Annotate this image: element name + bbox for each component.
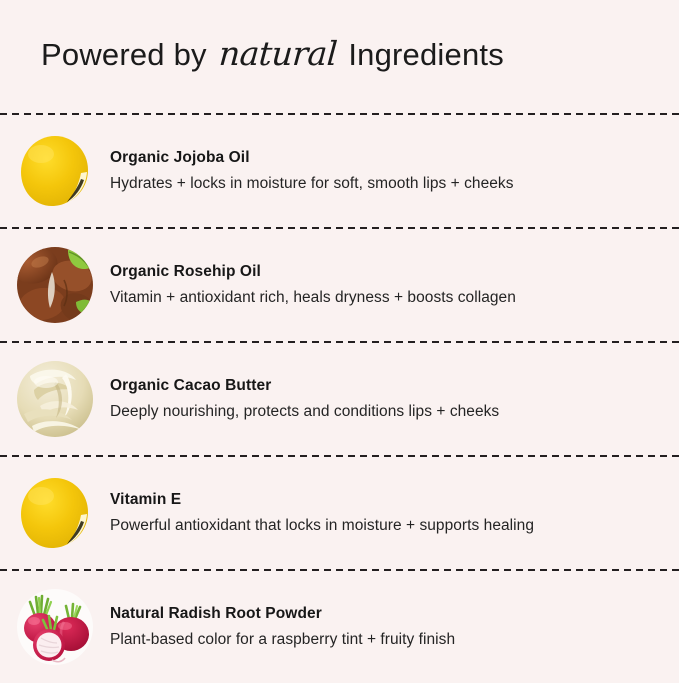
list-item: Organic Jojoba Oil Hydrates + locks in m… — [0, 115, 679, 227]
jojoba-oil-drop-icon — [16, 132, 94, 210]
ingredient-title: Organic Cacao Butter — [110, 375, 655, 397]
ingredient-description: Plant-based color for a raspberry tint +… — [110, 626, 655, 651]
list-item: Natural Radish Root Powder Plant-based c… — [0, 571, 679, 683]
page-title-script-word: natural — [214, 34, 341, 74]
radish-root-icon — [16, 588, 94, 666]
ingredient-text: Natural Radish Root Powder Plant-based c… — [110, 603, 679, 651]
ingredients-list: Organic Jojoba Oil Hydrates + locks in m… — [0, 113, 679, 683]
ingredient-thumbnail-wrap — [0, 588, 110, 666]
ingredient-text: Organic Cacao Butter Deeply nourishing, … — [110, 375, 679, 423]
vitamin-e-drop-icon — [16, 474, 94, 552]
ingredient-thumbnail-wrap — [0, 474, 110, 552]
rosehip-seeds-icon — [16, 246, 94, 324]
cacao-butter-swirl-icon — [16, 360, 94, 438]
ingredient-title: Organic Jojoba Oil — [110, 147, 655, 169]
ingredient-text: Vitamin E Powerful antioxidant that lock… — [110, 489, 679, 537]
ingredients-infographic: Powered by natural Ingredients — [0, 0, 679, 679]
ingredient-thumbnail-wrap — [0, 246, 110, 324]
ingredient-text: Organic Rosehip Oil Vitamin + antioxidan… — [110, 261, 679, 309]
ingredient-description: Powerful antioxidant that locks in moist… — [110, 512, 655, 537]
ingredient-thumbnail-wrap — [0, 132, 110, 210]
page-title-part2: Ingredients — [348, 37, 504, 72]
page-title: Powered by natural Ingredients — [41, 34, 504, 74]
list-item: Organic Cacao Butter Deeply nourishing, … — [0, 343, 679, 455]
ingredient-description: Hydrates + locks in moisture for soft, s… — [110, 170, 655, 195]
ingredient-title: Vitamin E — [110, 489, 655, 511]
ingredient-text: Organic Jojoba Oil Hydrates + locks in m… — [110, 147, 679, 195]
list-item: Vitamin E Powerful antioxidant that lock… — [0, 457, 679, 569]
ingredient-description: Deeply nourishing, protects and conditio… — [110, 398, 655, 423]
ingredient-thumbnail-wrap — [0, 360, 110, 438]
list-item: Organic Rosehip Oil Vitamin + antioxidan… — [0, 229, 679, 341]
ingredient-description: Vitamin + antioxidant rich, heals drynes… — [110, 284, 655, 309]
ingredient-title: Organic Rosehip Oil — [110, 261, 655, 283]
page-title-part1: Powered by — [41, 37, 207, 72]
ingredient-title: Natural Radish Root Powder — [110, 603, 655, 625]
